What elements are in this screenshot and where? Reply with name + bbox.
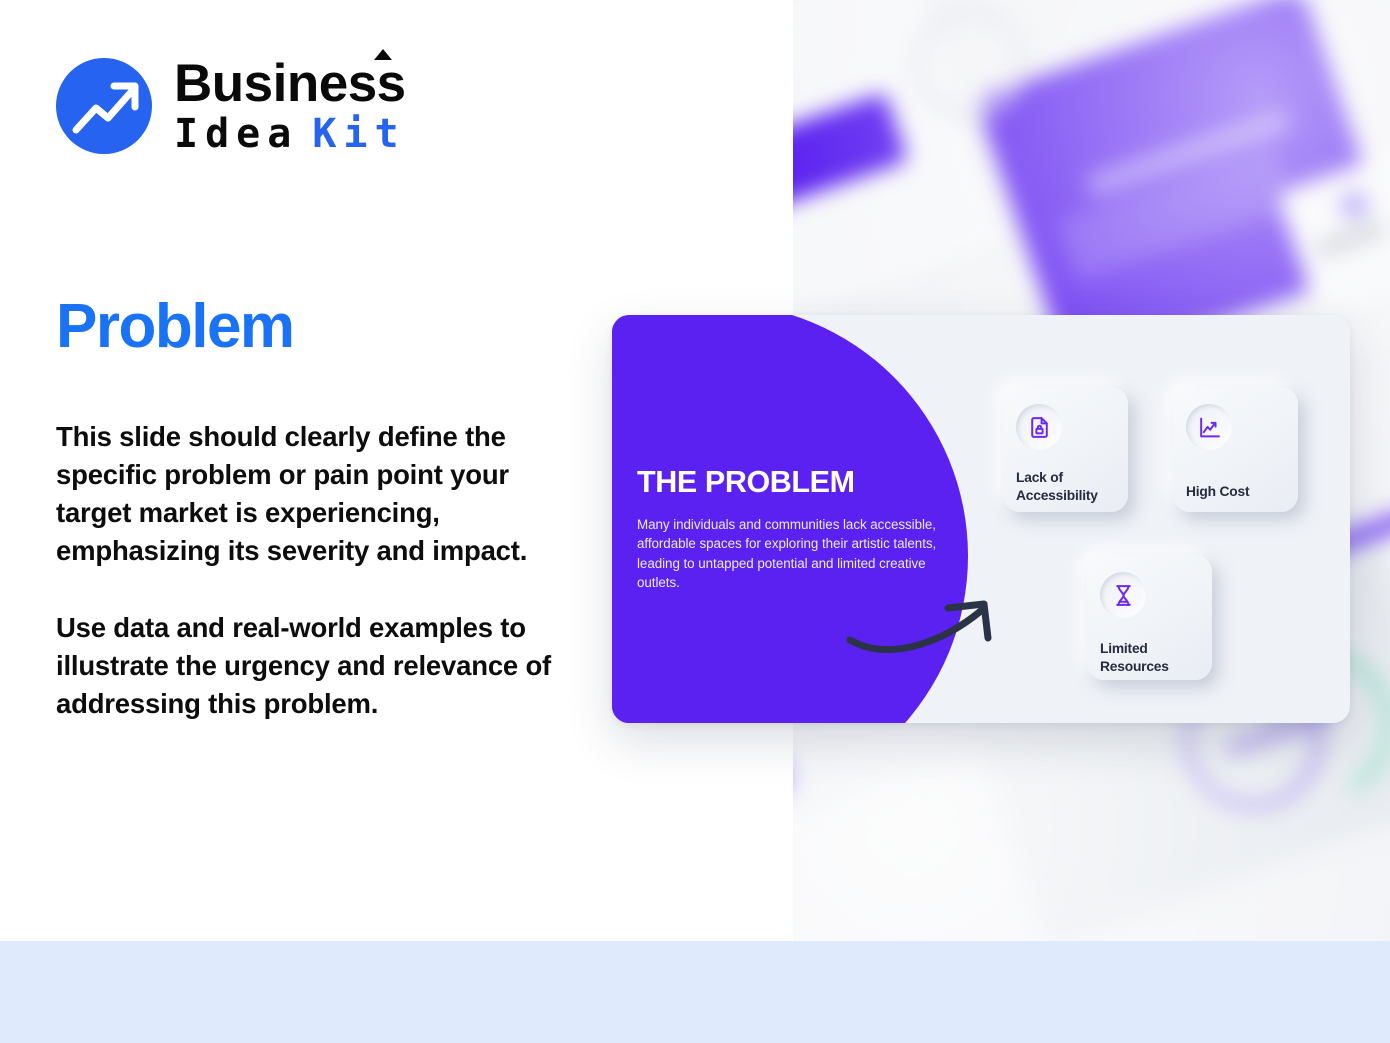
feature-card-label: Limited Resources [1100, 640, 1199, 675]
slide-copy-block: THE PROBLEM Many individuals and communi… [637, 467, 937, 593]
page-title: Problem [56, 296, 294, 358]
brand-logo: Business IdeaKit [56, 57, 406, 154]
bottom-accent-band [0, 941, 1390, 1043]
body-paragraph-2: Use data and real-world examples to illu… [56, 609, 566, 723]
brand-name-line1-text: Business [174, 54, 406, 113]
document-lock-icon [1016, 404, 1062, 450]
slide-heading: THE PROBLEM [637, 467, 937, 498]
curved-arrow-up-right-icon [844, 590, 1004, 660]
brand-name-line1: Business [174, 57, 406, 110]
line-chart-icon [1186, 404, 1232, 450]
slide-description: Many individuals and communities lack ac… [637, 515, 937, 593]
slide-preview-card[interactable]: THE PROBLEM Many individuals and communi… [612, 315, 1350, 723]
trending-up-arrow-icon [56, 58, 152, 154]
page-body: This slide should clearly define the spe… [56, 418, 566, 723]
brand-name-line2: IdeaKit [174, 114, 406, 154]
slide-page: Business IdeaKit Problem This slide shou… [0, 0, 1390, 1043]
feature-card-lack-of-accessibility[interactable]: Lack of Accessibility [1003, 387, 1128, 512]
hourglass-icon [1100, 572, 1146, 618]
feature-card-label: Lack of Accessibility [1016, 469, 1115, 504]
bg-dot-purple [1341, 192, 1367, 218]
bg-ring-1 [915, 8, 1025, 118]
feature-card-label: High Cost [1186, 483, 1285, 501]
feature-card-high-cost[interactable]: High Cost [1173, 387, 1298, 512]
body-paragraph-1: This slide should clearly define the spe… [56, 418, 566, 570]
brand-wordmark: Business IdeaKit [174, 57, 406, 154]
circumflex-accent-icon [374, 49, 392, 60]
feature-card-limited-resources[interactable]: Limited Resources [1087, 555, 1212, 680]
brand-name-kit: Kit [312, 111, 405, 157]
brand-name-idea: Idea [174, 111, 298, 157]
